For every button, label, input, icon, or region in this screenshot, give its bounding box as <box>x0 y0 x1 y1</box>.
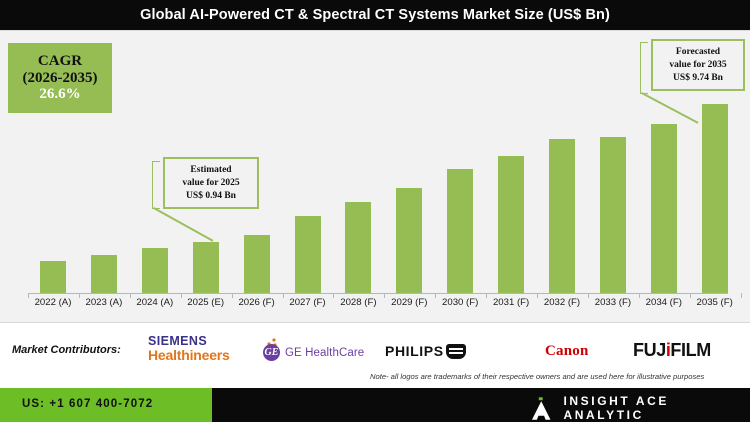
bar-2028 <box>345 202 371 293</box>
bar-2032 <box>549 139 575 293</box>
bar-2024 <box>142 248 168 293</box>
bar-2025 <box>193 242 219 293</box>
canon-wordmark: Canon <box>545 343 589 360</box>
philips-wordmark: PHILIPS <box>385 343 444 359</box>
siemens-wordmark-line1: SIEMENS <box>148 335 263 348</box>
x-axis-labels: 2022 (A)2023 (A)2024 (A)2025 (E)2026 (F)… <box>0 297 750 315</box>
estimated-callout-bracket <box>152 161 160 209</box>
estimated-value-callout: Estimated value for 2025 US$ 0.94 Bn <box>163 157 259 209</box>
footer-bar: US: +1 607 400-7072 INSIGHT ACE ANALYTIC <box>0 388 750 422</box>
report-infographic: Global AI-Powered CT & Spectral CT Syste… <box>0 0 750 422</box>
estimated-callout-leader <box>153 207 213 241</box>
estimated-callout-line2: value for 2025 <box>171 177 251 190</box>
forecasted-callout-line3: US$ 9.74 Bn <box>659 72 737 85</box>
bar-2027 <box>295 216 321 293</box>
fujifilm-wordmark-part1: FUJ <box>633 340 666 361</box>
cagr-badge: CAGR (2026-2035) 26.6% <box>8 43 112 113</box>
cagr-title: CAGR <box>38 53 82 70</box>
bar-2031 <box>498 156 524 293</box>
cagr-period: (2026-2035) <box>23 70 98 87</box>
footer-phone-number[interactable]: US: +1 607 400-7072 <box>22 398 153 410</box>
estimated-callout-line3: US$ 0.94 Bn <box>171 190 251 203</box>
ge-monogram-icon: GE <box>263 344 280 361</box>
bar-2030 <box>447 169 473 293</box>
forecasted-value-callout: Forecasted value for 2035 US$ 9.74 Bn <box>651 39 745 91</box>
forecasted-callout-bracket <box>640 42 648 94</box>
estimated-callout-line1: Estimated <box>171 164 251 177</box>
page-title: Global AI-Powered CT & Spectral CT Syste… <box>140 7 610 23</box>
siemens-healthineers-logo: SIEMENS Healthineers <box>148 335 263 362</box>
bar-2033 <box>600 137 626 293</box>
siemens-wordmark-line2: Healthineers <box>148 348 263 362</box>
x-axis-label: 2035 (F) <box>685 297 745 308</box>
cagr-value: 26.6% <box>39 86 80 103</box>
forecasted-callout-leader <box>641 92 698 123</box>
market-contributors-bar: Market Contributors: SIEMENS Healthineer… <box>0 322 750 389</box>
canon-logo: Canon <box>545 343 589 360</box>
forecasted-callout-line2: value for 2035 <box>659 59 737 72</box>
forecasted-callout-line1: Forecasted <box>659 46 737 59</box>
philips-logo: PHILIPS <box>385 343 466 359</box>
ge-healthcare-logo: GE GE HealthCare <box>263 344 364 361</box>
company-brand: INSIGHT ACE ANALYTIC <box>531 394 750 422</box>
philips-shield-icon <box>446 344 466 359</box>
bar-2026 <box>244 235 270 293</box>
trademark-note: Note- all logos are trademarks of their … <box>370 372 704 381</box>
bar-2034 <box>651 124 677 293</box>
bar-2035 <box>702 104 728 293</box>
fujifilm-logo: FUJ i FILM <box>633 340 711 361</box>
bar-2023 <box>91 255 117 293</box>
ge-healthcare-wordmark: GE HealthCare <box>285 347 364 359</box>
insight-ace-a-logo-icon <box>531 397 551 420</box>
bar-2029 <box>396 188 422 293</box>
contributors-label: Market Contributors: <box>12 344 121 356</box>
fujifilm-wordmark-part2: FILM <box>670 340 710 361</box>
x-axis-line <box>28 293 728 294</box>
chart-title-bar: Global AI-Powered CT & Spectral CT Syste… <box>0 0 750 30</box>
bar-2022 <box>40 261 66 293</box>
chart-plot-area: CAGR (2026-2035) 26.6% Estimated value f… <box>0 30 750 323</box>
company-name: INSIGHT ACE ANALYTIC <box>563 394 750 422</box>
